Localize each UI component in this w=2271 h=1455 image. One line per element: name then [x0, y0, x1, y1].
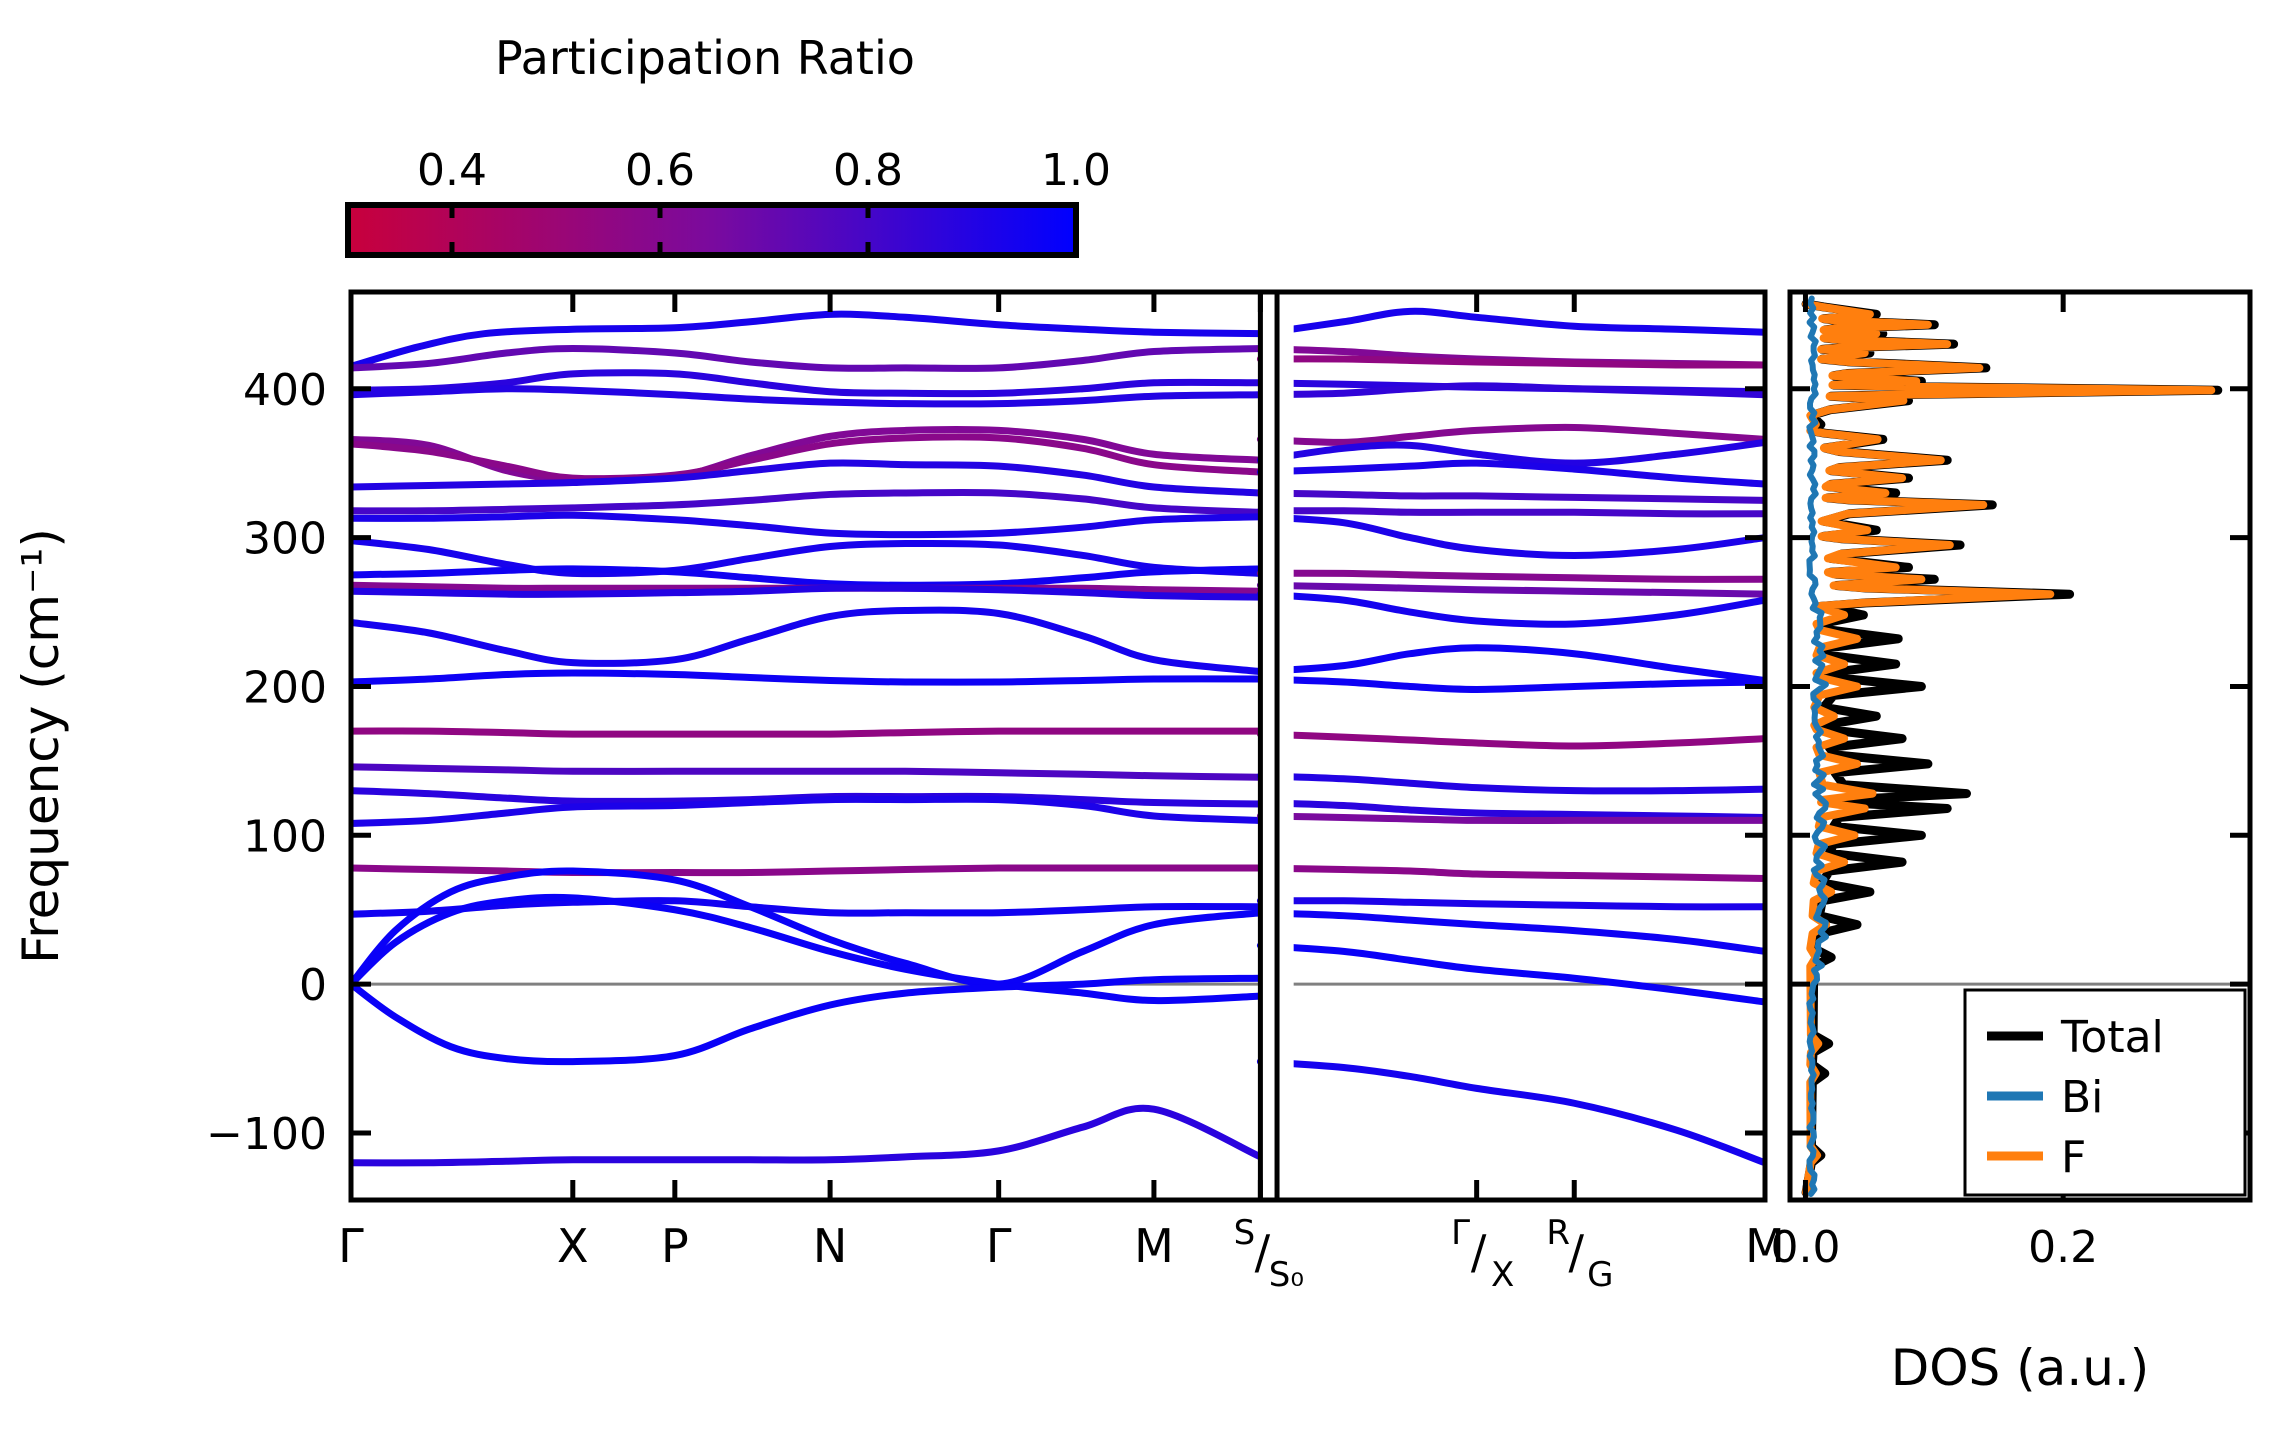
colorbar-tick-label: 0.6 — [625, 145, 695, 196]
dos-x-tick-label: 0.0 — [1770, 1222, 1840, 1273]
svg-text:G: G — [1587, 1255, 1613, 1295]
dos-panel[interactable]: 0.00.2 DOS (a.u.) TotalBiF — [1770, 292, 2250, 1397]
dos-legend[interactable]: TotalBiF — [1965, 990, 2245, 1195]
kpoint-labels: ΓXPNΓMS/S₀Γ/XR/GM — [338, 1213, 1785, 1295]
svg-text:N: N — [813, 1219, 847, 1273]
svg-text:Γ: Γ — [1451, 1213, 1470, 1253]
phonon-band-dos-figure: Participation Ratio 0.40.60.81.0 4003002… — [0, 0, 2271, 1455]
y-tick-label: 300 — [243, 514, 327, 565]
colorbar-tick-label: 0.8 — [833, 145, 903, 196]
svg-text:R: R — [1546, 1213, 1570, 1253]
svg-text:Γ: Γ — [338, 1219, 364, 1273]
colorbar-title: Participation Ratio — [495, 31, 915, 85]
y-tick-label: −100 — [206, 1109, 327, 1160]
svg-text:S: S — [1234, 1213, 1256, 1253]
svg-text:/: / — [1568, 1225, 1584, 1279]
kpoint-label: M — [1134, 1219, 1174, 1273]
kpoint-label: P — [661, 1219, 689, 1273]
y-axis-label: Frequency (cm⁻¹) — [12, 528, 70, 964]
y-tick-label: 200 — [243, 662, 327, 713]
colorbar-tick-label: 0.4 — [417, 145, 487, 196]
svg-text:M: M — [1134, 1219, 1174, 1273]
kpoint-label: Γ — [986, 1219, 1012, 1273]
band-curve — [1260, 511, 1765, 514]
bands-panel[interactable]: 4003002001000−100 ΓXPNΓMS/S₀Γ/XR/GM Freq… — [12, 292, 1785, 1295]
kpoint-label: Γ — [338, 1219, 364, 1273]
legend-label: F — [2061, 1132, 2086, 1183]
band-curve — [351, 731, 1260, 734]
kpoint-label: S/S₀ — [1234, 1213, 1304, 1295]
svg-text:X: X — [557, 1219, 589, 1273]
kpoint-label: R/G — [1546, 1213, 1613, 1295]
svg-text:P: P — [661, 1219, 689, 1273]
svg-text:/: / — [1471, 1225, 1487, 1279]
svg-text:S₀: S₀ — [1269, 1255, 1304, 1295]
svg-text:X: X — [1491, 1255, 1514, 1295]
svg-text:Γ: Γ — [986, 1219, 1012, 1273]
y-tick-label: 100 — [243, 811, 327, 862]
figure-canvas: Participation Ratio 0.40.60.81.0 4003002… — [0, 0, 2271, 1455]
y-tick-label: 400 — [243, 365, 327, 416]
legend-label: Bi — [2061, 1072, 2103, 1123]
kpoint-label: N — [813, 1219, 847, 1273]
colorbar-tick-labels: 0.40.60.81.0 — [417, 145, 1111, 196]
dos-x-tick-labels: 0.00.2 — [1770, 1222, 2098, 1273]
legend-label: Total — [2060, 1012, 2164, 1063]
y-tick-label: 0 — [299, 960, 327, 1011]
colorbar-swatch[interactable] — [348, 205, 1076, 255]
bands-y-tick-labels: 4003002001000−100 — [206, 365, 327, 1160]
colorbar-group: Participation Ratio 0.40.60.81.0 — [348, 31, 1111, 255]
kpoint-label: Γ/X — [1451, 1213, 1514, 1295]
colorbar-tick-label: 1.0 — [1041, 145, 1111, 196]
dos-x-tick-label: 0.2 — [2028, 1222, 2098, 1273]
dos-axis-label: DOS (a.u.) — [1891, 1339, 2150, 1397]
kpoint-label: X — [557, 1219, 589, 1273]
